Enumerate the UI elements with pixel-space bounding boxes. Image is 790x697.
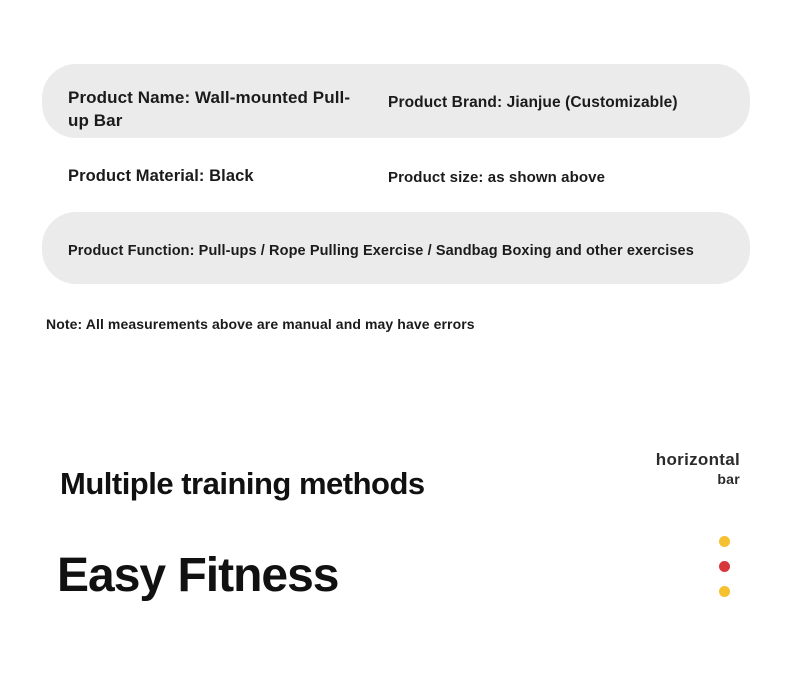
- measurement-note-text: Note: All measurements above are manual …: [46, 313, 746, 335]
- brandmark: horizontal bar: [620, 450, 740, 488]
- dot-yellow-bottom-icon: [719, 586, 730, 597]
- headline-secondary: Easy Fitness: [57, 548, 338, 603]
- headline-primary: Multiple training methods: [60, 466, 425, 502]
- product-name-text: Product Name: Wall-mounted Pull-up Bar: [68, 86, 368, 132]
- product-material-text: Product Material: Black: [68, 165, 368, 187]
- brandmark-line-2: bar: [620, 470, 740, 488]
- product-brand-text: Product Brand: Jianjue (Customizable): [388, 92, 738, 114]
- brandmark-line-1: horizontal: [620, 450, 740, 470]
- dot-red-middle-icon: [719, 561, 730, 572]
- dot-yellow-top-icon: [719, 536, 730, 547]
- decorative-dot-column: [714, 536, 734, 597]
- product-size-text: Product size: as shown above: [388, 167, 718, 189]
- product-function-text: Product Function: Pull-ups / Rope Pullin…: [68, 240, 748, 262]
